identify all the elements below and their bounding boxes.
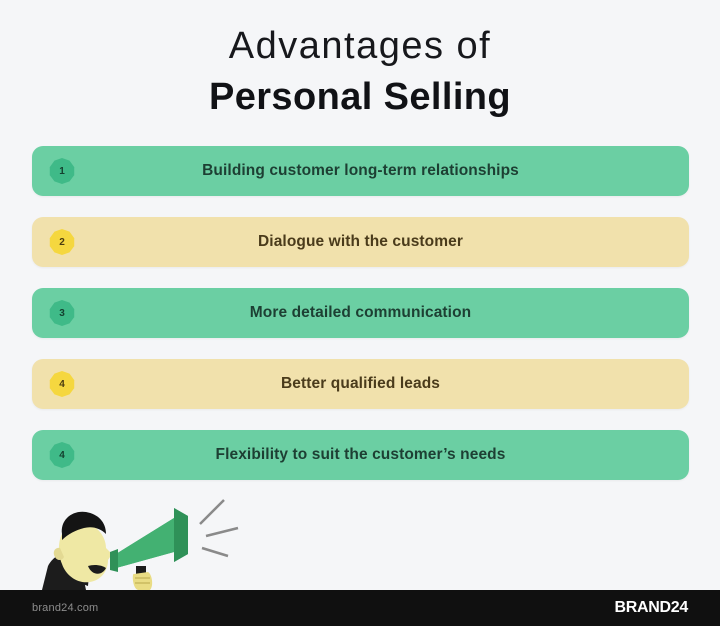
footer-url[interactable]: brand24.com (32, 602, 98, 614)
list-item-label: Better qualified leads (32, 375, 689, 393)
list-item: 4 Flexibility to suit the customer’s nee… (32, 430, 689, 480)
list-item: 4 Better qualified leads (32, 359, 689, 409)
list-item: 1 Building customer long-term relationsh… (32, 146, 689, 196)
hand-icon (133, 572, 152, 590)
footer-brand-logo: BRAND24 (615, 599, 688, 617)
sound-line-icon (206, 528, 238, 536)
list-item: 2 Dialogue with the customer (32, 217, 689, 267)
megaphone-rim-icon (174, 508, 188, 562)
list-item-label: Dialogue with the customer (32, 233, 689, 251)
advantages-list: 1 Building customer long-term relationsh… (32, 146, 689, 501)
list-item: 3 More detailed communication (32, 288, 689, 338)
infographic-canvas: Advantages of Personal Selling 1 Buildin… (0, 0, 720, 626)
list-item-label: More detailed communication (32, 304, 689, 322)
person-with-megaphone-illustration (38, 494, 278, 590)
footer-bar: brand24.com BRAND24 (0, 590, 720, 626)
sound-line-icon (202, 548, 228, 556)
title-line-1: Advantages of (0, 24, 720, 69)
megaphone-shade-icon (116, 518, 174, 568)
list-item-label: Building customer long-term relationship… (32, 162, 689, 180)
title-line-2: Personal Selling (0, 75, 720, 121)
megaphone-base-icon (110, 549, 118, 572)
page-title: Advantages of Personal Selling (0, 24, 720, 120)
sound-line-icon (200, 500, 224, 524)
list-item-label: Flexibility to suit the customer’s needs (32, 446, 689, 464)
